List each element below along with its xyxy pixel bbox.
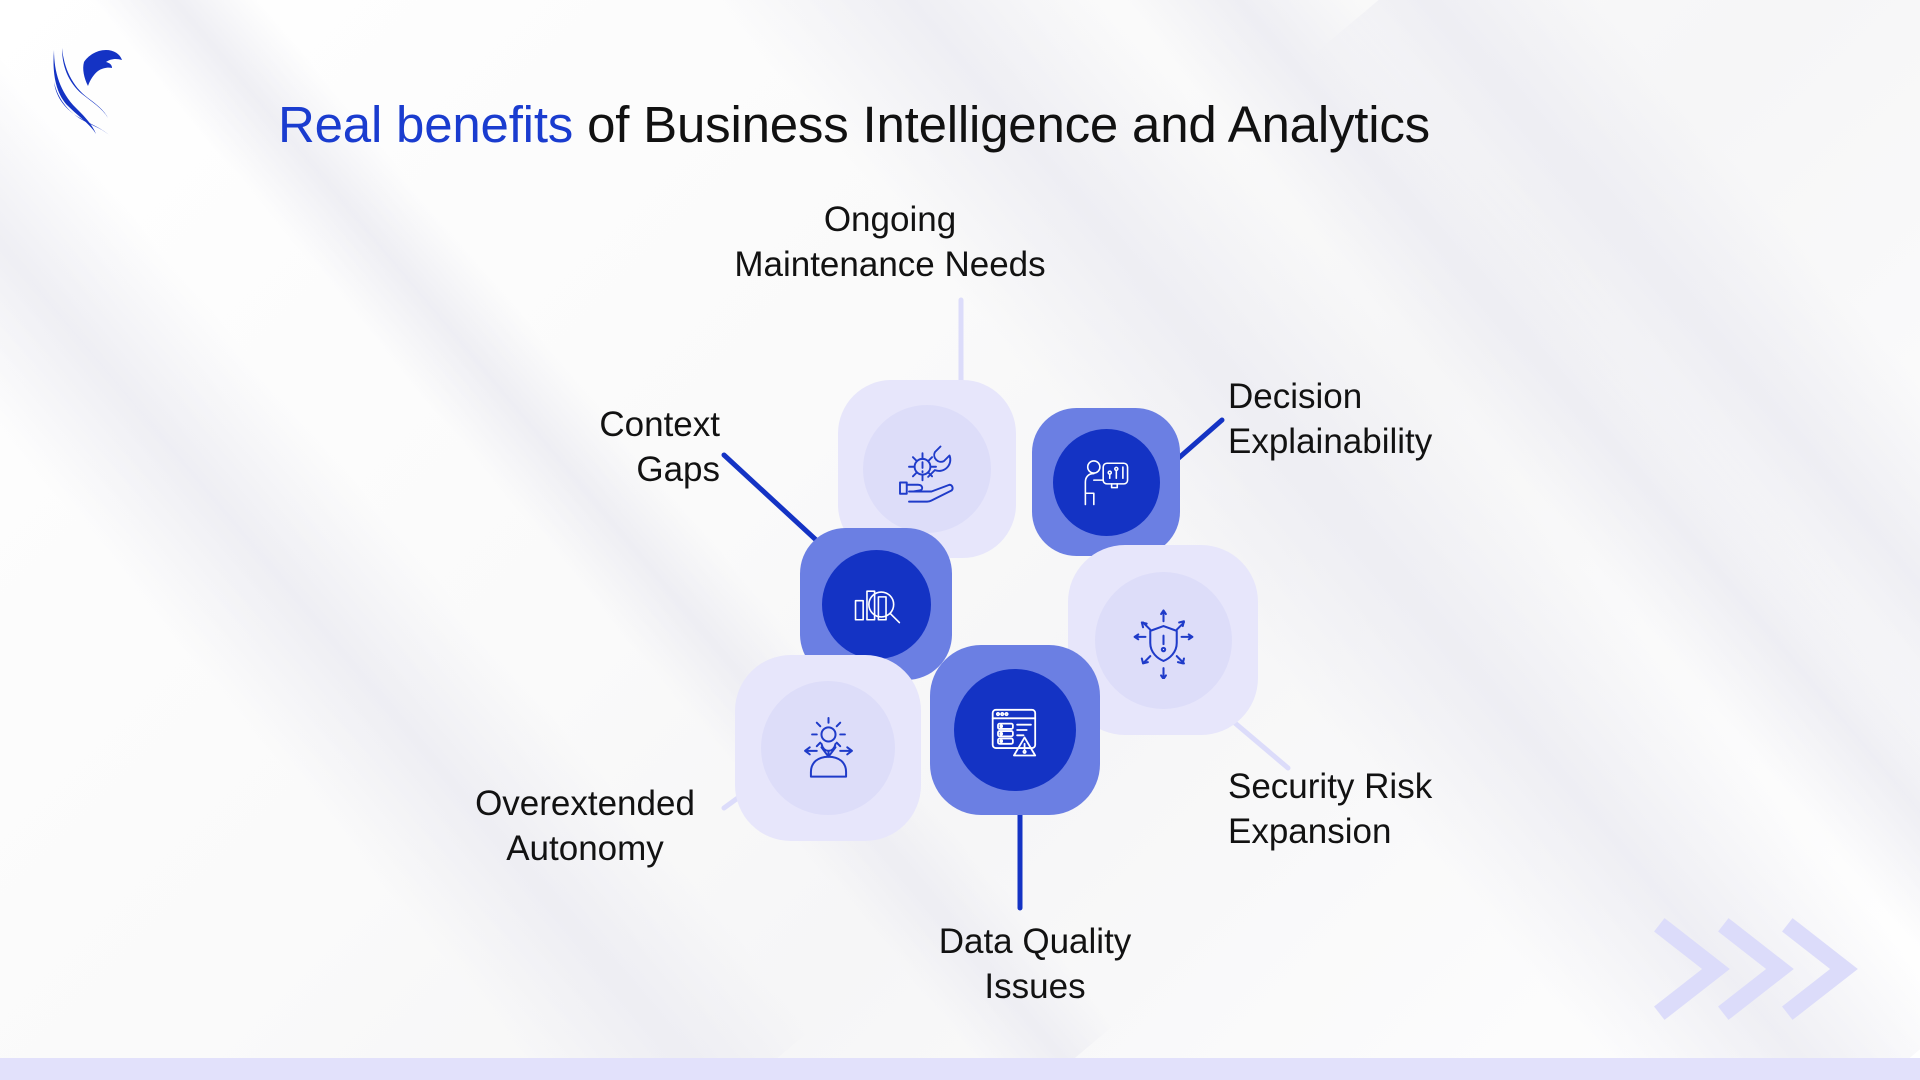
diagram-stage: Ongoing Maintenance NeedsDecision Explai… (0, 0, 1920, 1080)
database-window-warning-icon (981, 696, 1049, 764)
label-data-quality-issues: Data Quality Issues (860, 920, 1210, 1010)
label-overextended-autonomy: Overextended Autonomy (420, 782, 750, 872)
tile-overextended-autonomy[interactable] (735, 655, 921, 841)
presenter-chart-board-icon (1076, 452, 1136, 512)
label-context-gaps: Context Gaps (470, 403, 720, 493)
tile-disc-decision-explainability (1053, 429, 1160, 536)
chevrons-decoration (1652, 914, 1872, 1024)
bar-chart-magnifier-icon (846, 574, 907, 635)
tile-disc-ongoing-maintenance-needs (863, 405, 991, 533)
tile-disc-security-risk-expansion (1095, 572, 1232, 709)
tile-disc-data-quality-issues (954, 669, 1076, 791)
shield-alert-arrows-icon (1125, 602, 1202, 679)
tile-disc-overextended-autonomy (761, 681, 895, 815)
label-decision-explainability: Decision Explainability (1228, 375, 1558, 465)
hand-holding-gear-wrench-icon (891, 433, 963, 505)
tile-disc-context-gaps (822, 550, 931, 659)
footer-bar (0, 1058, 1920, 1080)
slide-canvas: Real benefits of Business Intelligence a… (0, 0, 1920, 1080)
tile-decision-explainability[interactable] (1032, 408, 1180, 556)
label-ongoing-maintenance-needs: Ongoing Maintenance Needs (690, 198, 1090, 288)
label-security-risk-expansion: Security Risk Expansion (1228, 765, 1558, 855)
person-gear-head-arrows-icon (791, 711, 866, 786)
tile-data-quality-issues[interactable] (930, 645, 1100, 815)
